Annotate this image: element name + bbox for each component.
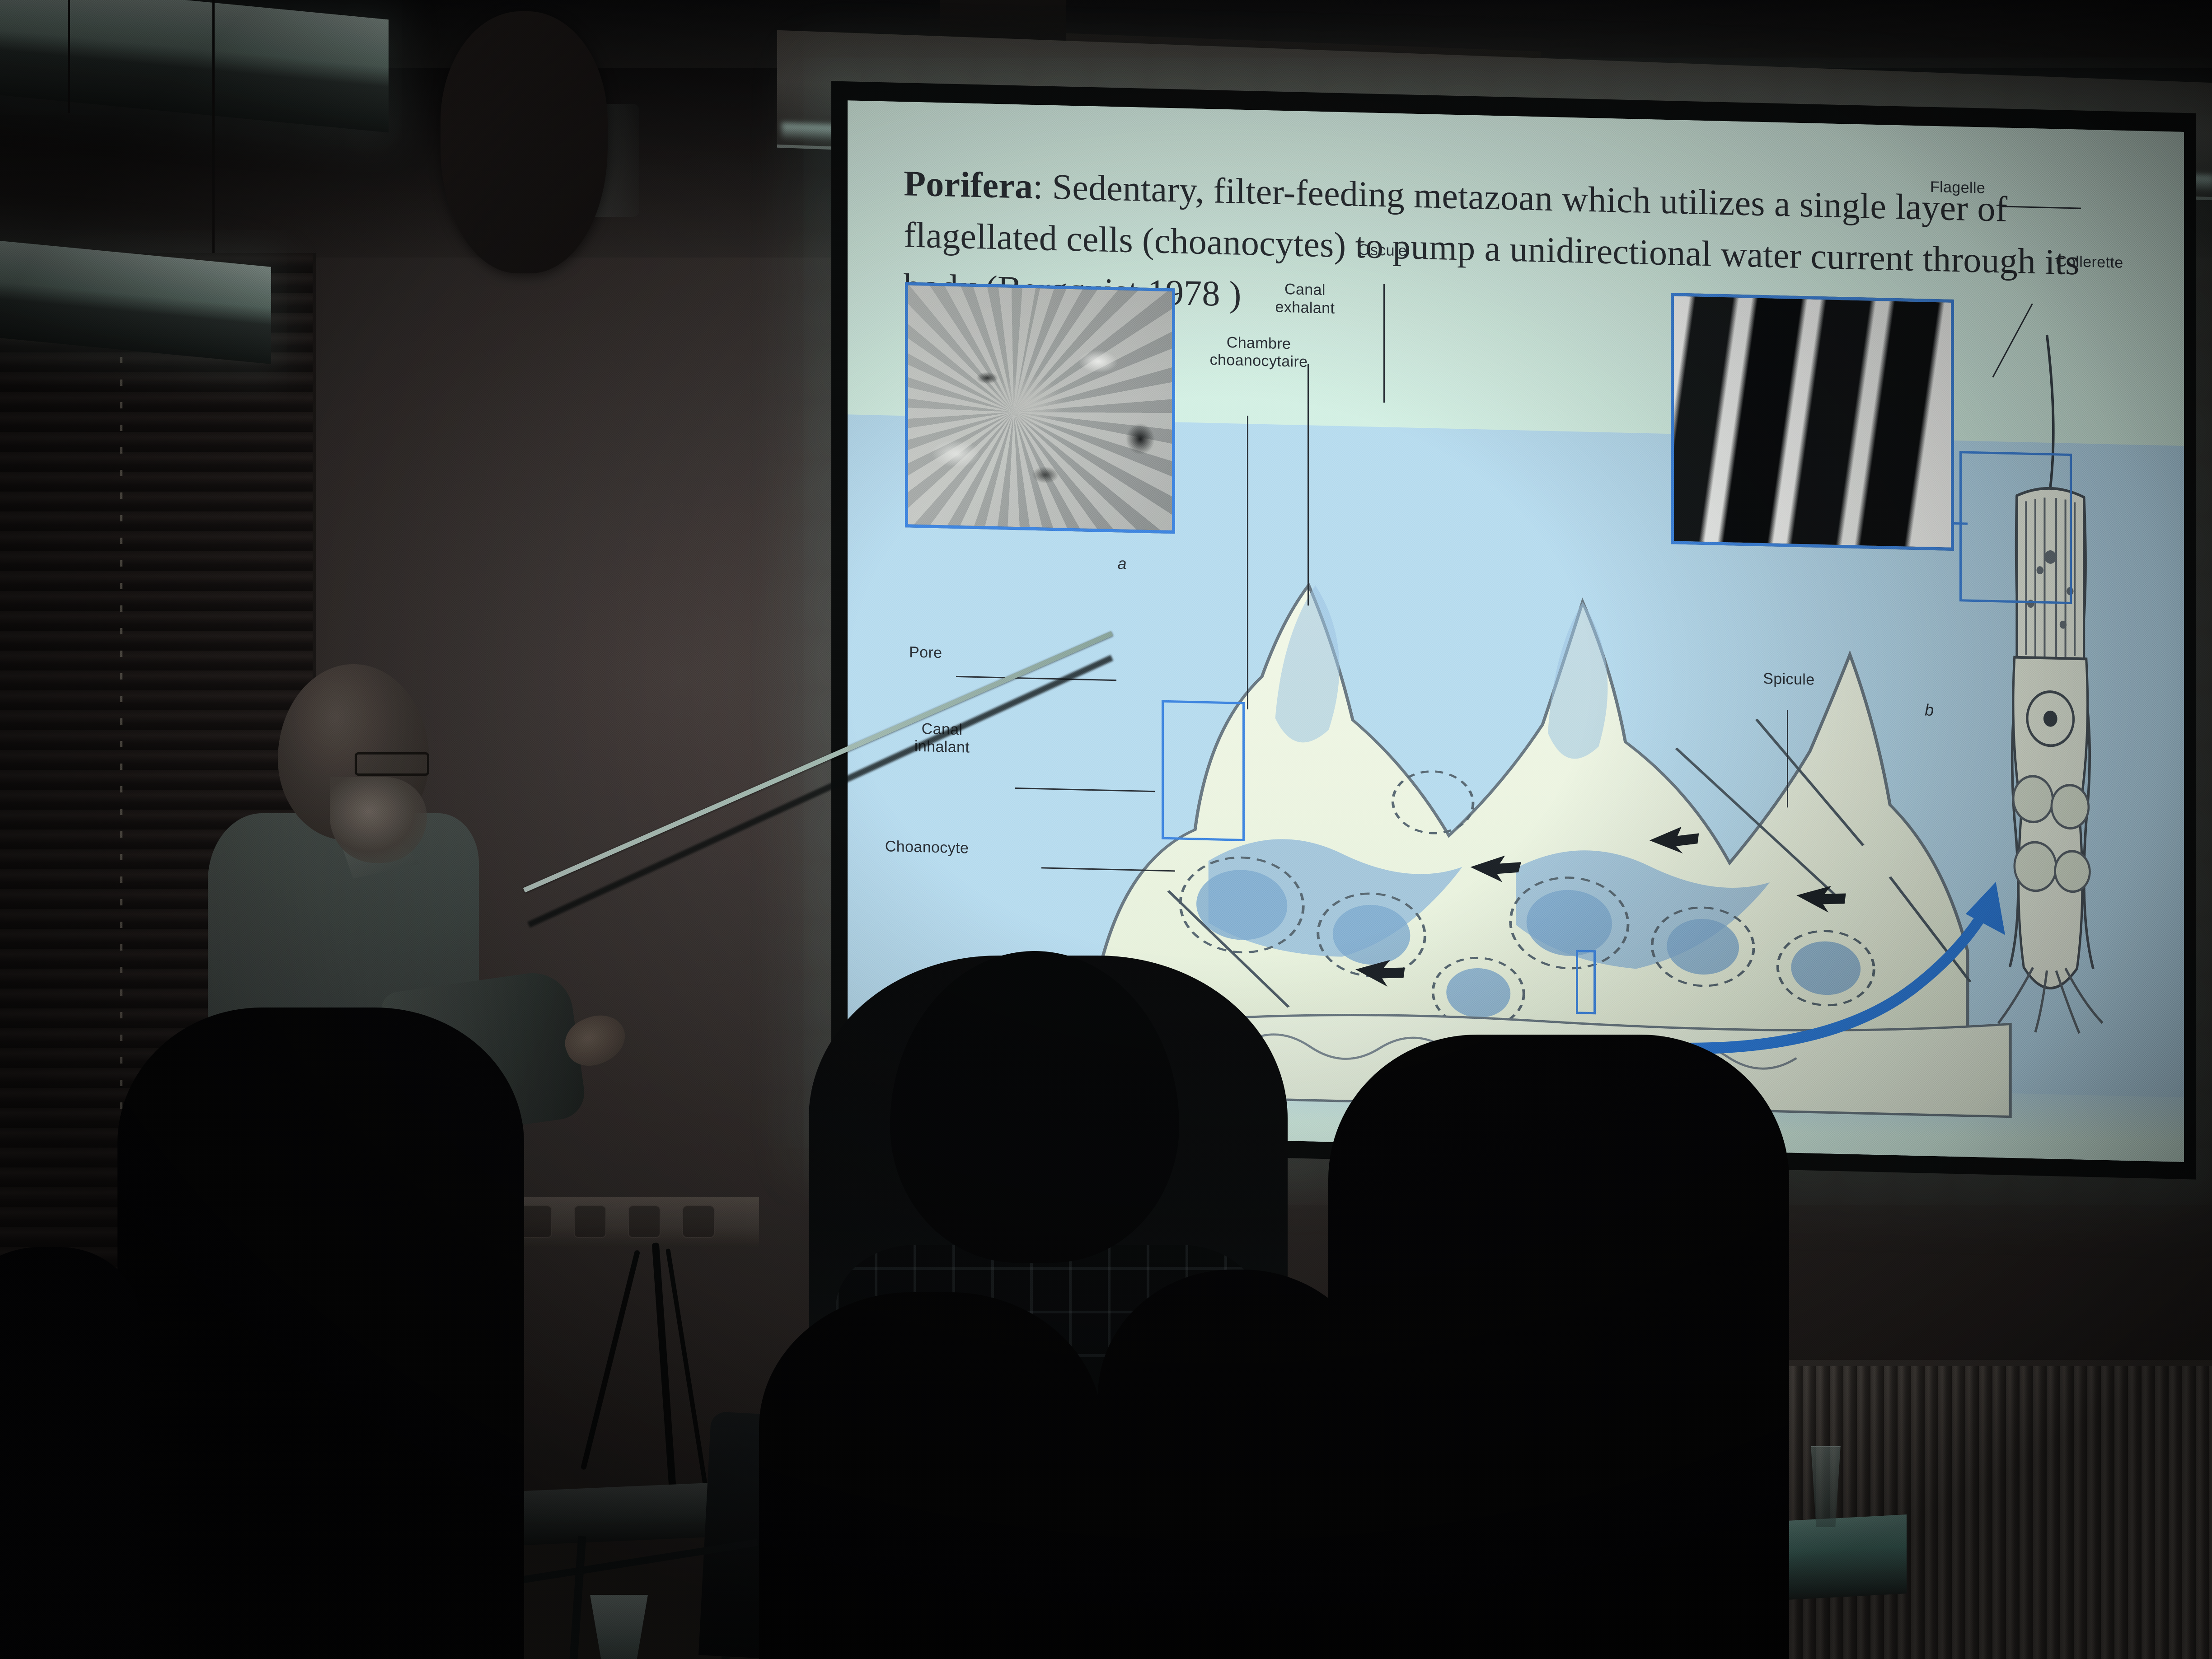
- side-table: [1771, 1514, 1907, 1601]
- light-hanger-rod: [68, 0, 70, 113]
- presenter-glasses: [355, 752, 429, 776]
- audience-head-center: [890, 951, 1179, 1263]
- audience-member-front-right: [1098, 1270, 1378, 1659]
- inset-connector-line: [1954, 522, 1968, 525]
- audience-member-right: [1328, 1035, 1789, 1659]
- network-socket-1[interactable]: [574, 1205, 606, 1238]
- label-oscule: Oscule: [1358, 241, 1407, 260]
- slide-title-term: Porifera: [904, 164, 1033, 207]
- audience-member-front-left: [759, 1292, 1102, 1659]
- audience-member-left: [117, 1008, 524, 1659]
- power-socket-2[interactable]: [520, 1205, 552, 1238]
- inset-sem-left: [905, 282, 1175, 534]
- leader-oscule: [1383, 284, 1385, 403]
- label-chambre-choanocytaire: Chambre choanocytaire: [1210, 333, 1308, 371]
- zoom-box-chamber: [1162, 700, 1244, 841]
- wall-speaker: [441, 11, 608, 273]
- panel-marker-a: a: [1118, 554, 1127, 573]
- panel-marker-b: b: [1925, 701, 1934, 720]
- light-hanger-rod-2: [212, 0, 215, 253]
- label-pore: Pore: [909, 644, 942, 662]
- audience-member-far-left: [0, 1247, 140, 1659]
- zoom-box-choanocyte: [1576, 950, 1596, 1014]
- label-collerette: Collerette: [2056, 253, 2123, 272]
- network-socket-2[interactable]: [628, 1205, 661, 1238]
- lecture-hall-scene: PROJECTOR Porifera: Sedentary, filter-fe…: [0, 0, 2212, 1659]
- sem-micrograph-right: [1674, 296, 1951, 548]
- leader-canal-exhalant: [1308, 364, 1309, 606]
- blue-flow-arrow: [1676, 862, 2024, 1097]
- leader-chambre-choanocytaire: [1247, 416, 1248, 709]
- label-spicule: Spicule: [1763, 670, 1814, 689]
- av-socket[interactable]: [682, 1205, 715, 1238]
- label-canal-exhalant: Canal exhalant: [1275, 281, 1335, 318]
- inset-sem-right: [1671, 293, 1954, 551]
- label-choanocyte: Choanocyte: [885, 838, 969, 858]
- sem-micrograph-left: [908, 285, 1172, 530]
- label-flagelle: Flagelle: [1930, 178, 1985, 197]
- presenter-beard: [330, 777, 427, 863]
- zoom-box-collar: [1959, 451, 2071, 604]
- leader-spicule: [1787, 710, 1788, 808]
